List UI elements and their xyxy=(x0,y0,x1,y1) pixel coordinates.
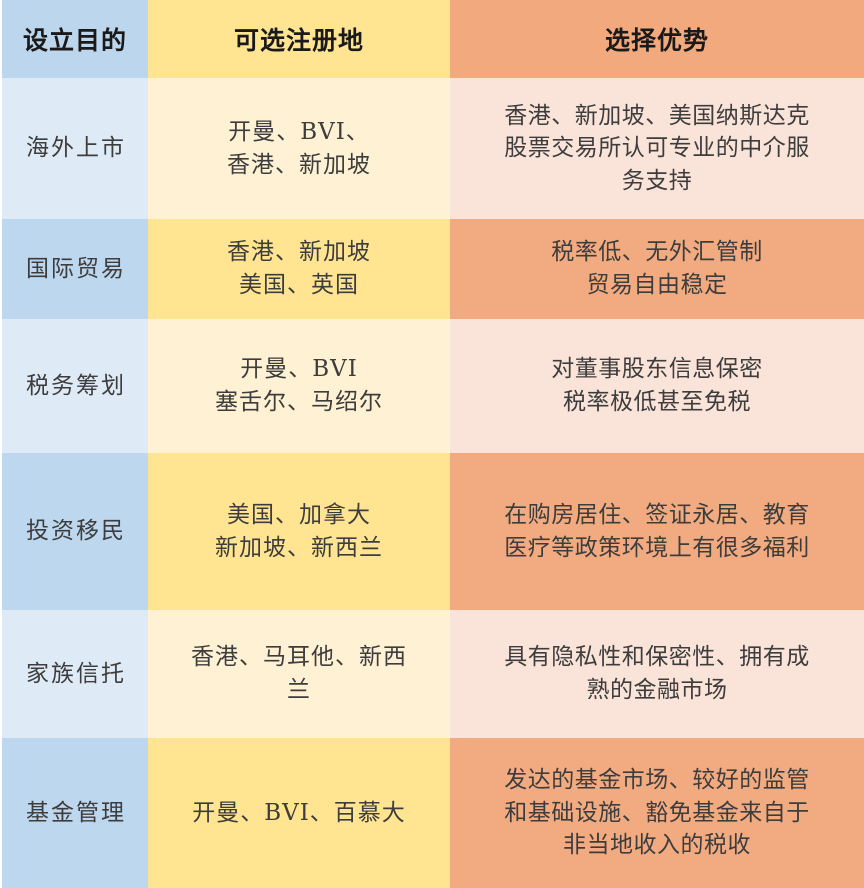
cell-jurisdiction: 香港、新加坡 美国、英国 xyxy=(148,219,450,319)
column-header-jurisdiction: 可选注册地 xyxy=(148,0,450,78)
cell-jurisdiction: 开曼、BVI、 香港、新加坡 xyxy=(148,78,450,219)
column-header-purpose: 设立目的 xyxy=(2,0,148,78)
cell-advantage: 香港、新加坡、美国纳斯达克 股票交易所认可专业的中介服 务支持 xyxy=(450,78,864,219)
cell-jurisdiction: 香港、马耳他、新西 兰 xyxy=(148,610,450,738)
table-row: 基金管理 开曼、BVI、百慕大 发达的基金市场、较好的监管 和基础设施、豁免基金… xyxy=(2,738,864,888)
table-row: 投资移民 美国、加拿大 新加坡、新西兰 在购房居住、签证永居、教育 医疗等政策环… xyxy=(2,453,864,610)
cell-jurisdiction: 美国、加拿大 新加坡、新西兰 xyxy=(148,453,450,610)
column-header-advantage: 选择优势 xyxy=(450,0,864,78)
table-row: 国际贸易 香港、新加坡 美国、英国 税率低、无外汇管制 贸易自由稳定 xyxy=(2,219,864,319)
cell-purpose: 海外上市 xyxy=(2,78,148,219)
table-row: 税务筹划 开曼、BVI 塞舌尔、马绍尔 对董事股东信息保密 税率极低甚至免税 xyxy=(2,319,864,453)
cell-advantage: 对董事股东信息保密 税率极低甚至免税 xyxy=(450,319,864,453)
table-header-row: 设立目的 可选注册地 选择优势 xyxy=(2,0,864,78)
cell-jurisdiction: 开曼、BVI、百慕大 xyxy=(148,738,450,888)
offshore-jurisdiction-table: 设立目的 可选注册地 选择优势 海外上市 开曼、BVI、 香港、新加坡 香港、新… xyxy=(2,0,864,888)
table-header: 设立目的 可选注册地 选择优势 xyxy=(2,0,864,78)
cell-jurisdiction: 开曼、BVI 塞舌尔、马绍尔 xyxy=(148,319,450,453)
cell-advantage: 发达的基金市场、较好的监管 和基础设施、豁免基金来自于 非当地收入的税收 xyxy=(450,738,864,888)
cell-advantage: 具有隐私性和保密性、拥有成 熟的金融市场 xyxy=(450,610,864,738)
cell-purpose: 基金管理 xyxy=(2,738,148,888)
cell-purpose: 税务筹划 xyxy=(2,319,148,453)
cell-advantage: 税率低、无外汇管制 贸易自由稳定 xyxy=(450,219,864,319)
table-body: 海外上市 开曼、BVI、 香港、新加坡 香港、新加坡、美国纳斯达克 股票交易所认… xyxy=(2,78,864,888)
offshore-jurisdiction-table-container: 设立目的 可选注册地 选择优势 海外上市 开曼、BVI、 香港、新加坡 香港、新… xyxy=(0,0,864,816)
table-row: 家族信托 香港、马耳他、新西 兰 具有隐私性和保密性、拥有成 熟的金融市场 xyxy=(2,610,864,738)
cell-purpose: 投资移民 xyxy=(2,453,148,610)
cell-purpose: 家族信托 xyxy=(2,610,148,738)
table-row: 海外上市 开曼、BVI、 香港、新加坡 香港、新加坡、美国纳斯达克 股票交易所认… xyxy=(2,78,864,219)
cell-advantage: 在购房居住、签证永居、教育 医疗等政策环境上有很多福利 xyxy=(450,453,864,610)
cell-purpose: 国际贸易 xyxy=(2,219,148,319)
